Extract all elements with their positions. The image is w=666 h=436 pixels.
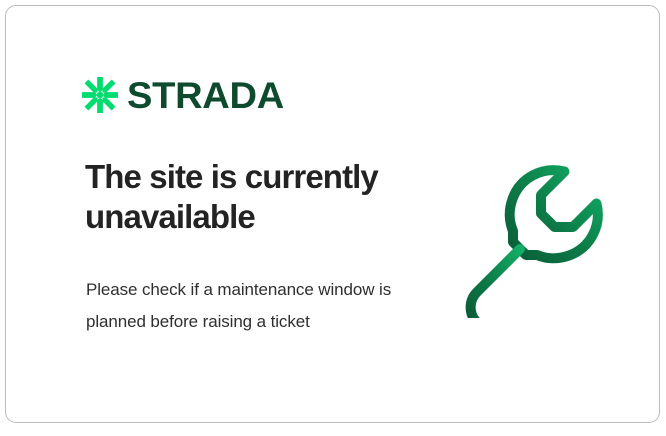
status-card: STRADA The site is currently unavailable…	[5, 5, 660, 423]
brand-lockup: STRADA	[82, 74, 279, 116]
page-title: The site is currently unavailable	[85, 157, 415, 237]
brand-wordmark: STRADA	[127, 77, 284, 114]
wrench-icon	[458, 156, 624, 318]
page-root: STRADA The site is currently unavailable…	[0, 0, 666, 436]
strada-starburst-icon	[82, 77, 118, 113]
page-description: Please check if a maintenance window is …	[86, 274, 396, 338]
